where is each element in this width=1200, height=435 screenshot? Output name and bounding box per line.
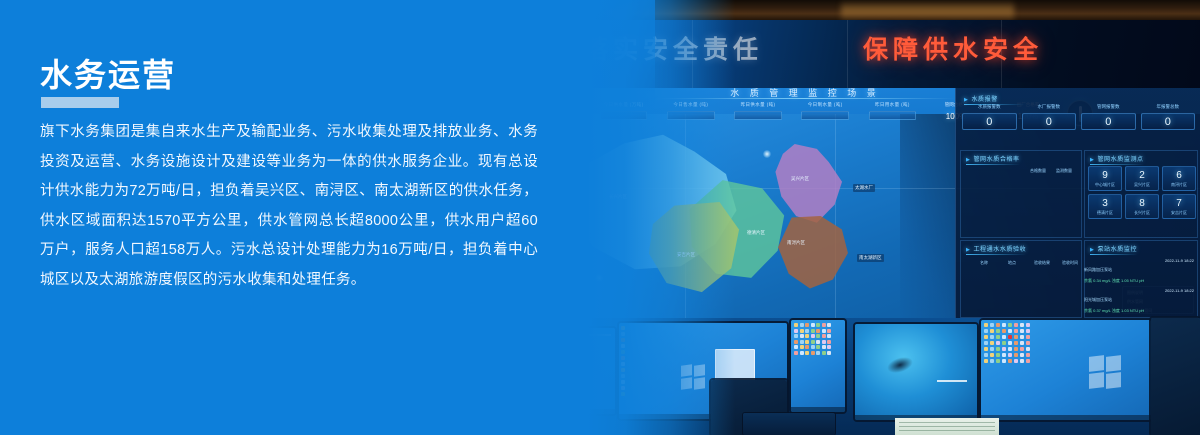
pump-values: 余氯 0.34 mg/L 浊度 1.05 NTU pH <box>1084 278 1194 284</box>
region-label-wuxing: 吴兴片区 <box>791 176 809 182</box>
map-glow-marker <box>763 150 771 158</box>
alarm-card-grid: 水质报警数 0 水厂报警数 0 管网报警数 0 年报警总数 0 <box>962 104 1195 130</box>
control-room-photo: 落实安全责任 保障供水安全 德清片区 安吉片区 吴兴片区 南浔片区 长兴片区 太… <box>535 0 1200 435</box>
desktop-icon-grid[interactable] <box>794 323 831 355</box>
panel-header-acceptance: 工程通水水质验收 <box>966 244 1026 253</box>
led-slogan-right: 保障供水安全 <box>863 30 1043 66</box>
site-label: 长兴片区 <box>1126 210 1158 216</box>
pump-name: 新风路加压泵站 <box>1084 267 1112 272</box>
panel-header-sites: 管网水质监测点 <box>1090 154 1144 163</box>
site-count: 9 <box>1089 170 1121 181</box>
pump-name: 阳光城加压泵站 <box>1084 297 1112 302</box>
monitor-right-edge[interactable] <box>1151 318 1200 435</box>
site-count: 6 <box>1163 170 1195 181</box>
map-gridline <box>835 114 836 320</box>
kpi-item[interactable]: 昨日供水量 (吨) <box>727 102 788 120</box>
panel-header-monitor: 泵站水质监控 <box>1090 244 1137 253</box>
pump-feed-row[interactable]: 2022-11-9 18:22 新风路加压泵站 余氯 0.34 mg/L 浊度 … <box>1084 258 1194 284</box>
alarm-card[interactable]: 年报警总数 0 <box>1141 104 1196 130</box>
site-cell[interactable]: 2 吴兴片区 <box>1125 166 1159 191</box>
kpi-item[interactable]: 今日制水量 (吨) <box>795 102 856 120</box>
site-label: 中心城片区 <box>1089 182 1121 188</box>
site-count-grid: 9 中心城片区 2 吴兴片区 6 南浔片区 3 德清片区 8 长兴片区 7 安吉… <box>1088 166 1196 219</box>
site-label: 吴兴片区 <box>1126 182 1158 188</box>
pump-time: 2022-11-9 18:22 <box>1165 258 1194 263</box>
ceiling-light-glow <box>841 0 1014 22</box>
site-cell[interactable]: 3 德清片区 <box>1088 194 1122 219</box>
text-panel: 水务运营 旗下水务集团是集自来水生产及输配业务、污水收集处理及排放业务、水务投资… <box>0 0 560 435</box>
site-count: 3 <box>1089 198 1121 209</box>
led-panel-seam <box>847 20 848 92</box>
alarm-label: 水质报警数 <box>962 104 1017 110</box>
region-label-deqing: 德清片区 <box>747 230 765 236</box>
site-count: 2 <box>1126 170 1158 181</box>
keyboard[interactable] <box>743 413 835 435</box>
site-cell[interactable]: 8 长兴片区 <box>1125 194 1159 219</box>
desktop-icon-grid[interactable] <box>984 323 1030 363</box>
description-paragraph: 旗下水务集团是集自来水生产及输配业务、污水收集处理及排放业务、水务投资及运营、水… <box>40 118 538 295</box>
kpi-value-box <box>869 111 917 120</box>
pump-values: 余氯 0.37 mg/L 浊度 1.03 NTU pH <box>1084 308 1194 314</box>
kpi-label: 今日制水量 (吨) <box>795 102 856 108</box>
taskbar <box>791 407 845 412</box>
kpi-label: 昨日供水量 (吨) <box>727 102 788 108</box>
site-label: 南浔片区 <box>1163 182 1195 188</box>
alarm-card[interactable]: 水厂报警数 0 <box>1022 104 1077 130</box>
site-cell[interactable]: 7 安吉片区 <box>1162 194 1196 219</box>
pump-time: 2022-11-9 18:22 <box>1165 288 1194 293</box>
title-underline <box>41 97 119 108</box>
kpi-item[interactable]: 昨日用水量 (吨) <box>862 102 923 120</box>
site-count: 7 <box>1163 198 1195 209</box>
monitor-icons[interactable] <box>791 320 845 412</box>
alarm-label: 年报警总数 <box>1141 104 1196 110</box>
map-poi-taihu-plant[interactable]: 太湖水厂 <box>853 184 875 192</box>
taskbar <box>981 415 1151 420</box>
site-cell[interactable]: 9 中心城片区 <box>1088 166 1122 191</box>
rate-legend-a: 合格数量 <box>1030 168 1046 174</box>
acceptance-col: 验收结果 <box>1034 260 1050 266</box>
site-label: 安吉片区 <box>1163 210 1195 216</box>
rate-legend-b: 监测数量 <box>1056 168 1072 174</box>
pump-feed-list: 2022-11-9 18:22 新风路加压泵站 余氯 0.34 mg/L 浊度 … <box>1084 258 1194 320</box>
site-label: 德清片区 <box>1089 210 1121 216</box>
alarm-value: 0 <box>962 113 1017 130</box>
page-title: 水务运营 <box>40 50 176 96</box>
alarm-label: 管网报警数 <box>1081 104 1136 110</box>
alarm-label: 水厂报警数 <box>1022 104 1077 110</box>
water-operations-banner: 落实安全责任 保障供水安全 德清片区 安吉片区 吴兴片区 南浔片区 长兴片区 太… <box>0 0 1200 435</box>
alarm-value: 0 <box>1141 113 1196 130</box>
monitor-underwater[interactable] <box>855 324 977 420</box>
monitor-windows10[interactable] <box>981 320 1151 420</box>
alarm-value: 0 <box>1022 113 1077 130</box>
water-quality-panel: 水质报警 水质报警数 0 水厂报警数 0 管网报警数 0 年报警总数 0 管网水… <box>955 88 1200 320</box>
panel-header-rate: 管网水质合格率 <box>966 154 1020 163</box>
acceptance-col: 地点 <box>1008 260 1016 266</box>
kpi-label: 昨日用水量 (吨) <box>862 102 923 108</box>
alarm-card[interactable]: 管网报警数 0 <box>1081 104 1136 130</box>
region-label-nanxun: 南浔片区 <box>787 240 805 246</box>
map-poi-nantaihu[interactable]: 南太湖新区 <box>857 254 884 262</box>
site-cell[interactable]: 6 南浔片区 <box>1162 166 1196 191</box>
acceptance-col: 名称 <box>980 260 988 266</box>
acceptance-col: 验收时间 <box>1062 260 1078 266</box>
alarm-value: 0 <box>1081 113 1136 130</box>
monitor-spreadsheet[interactable] <box>895 418 999 435</box>
panel-header-alarm: 水质报警 <box>964 94 1024 103</box>
pump-feed-row[interactable]: 2022-11-9 18:22 阳光城加压泵站 余氯 0.37 mg/L 浊度 … <box>1084 288 1194 314</box>
diver-silhouette <box>885 354 914 375</box>
alarm-card[interactable]: 水质报警数 0 <box>962 104 1017 130</box>
windows-logo-icon <box>1089 356 1123 390</box>
kpi-value-box <box>734 111 782 120</box>
site-count: 8 <box>1126 198 1158 209</box>
kpi-value-box <box>801 111 849 120</box>
